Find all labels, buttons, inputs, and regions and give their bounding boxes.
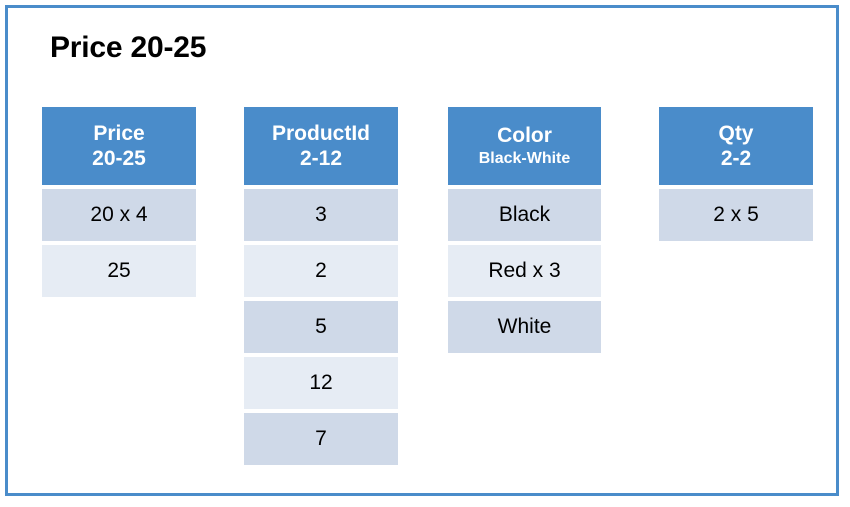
- table-cell[interactable]: 7: [244, 413, 398, 465]
- column-header-color: Color Black-White: [448, 107, 601, 185]
- table-cell[interactable]: 5: [244, 301, 398, 353]
- column-header-qty: Qty 2-2: [659, 107, 813, 185]
- column-header-title: ProductId: [272, 121, 370, 146]
- table-cell[interactable]: 2 x 5: [659, 189, 813, 241]
- column-header-productid: ProductId 2-12: [244, 107, 398, 185]
- table-cell[interactable]: 12: [244, 357, 398, 409]
- column-productid: ProductId 2-12 3 2 5 12 7: [244, 107, 398, 469]
- table-cell[interactable]: 2: [244, 245, 398, 297]
- column-header-title: Qty: [718, 121, 753, 146]
- table-cell[interactable]: 20 x 4: [42, 189, 196, 241]
- table-cell[interactable]: 3: [244, 189, 398, 241]
- column-header-price: Price 20-25: [42, 107, 196, 185]
- column-header-subtitle: 2-12: [300, 146, 342, 171]
- column-header-subtitle: 2-2: [721, 146, 751, 171]
- column-header-subtitle: Black-White: [479, 148, 571, 170]
- content-frame: Price 20-25 Price 20-25 20 x 4 25 Produc…: [5, 5, 839, 496]
- column-group: Price 20-25 20 x 4 25 ProductId 2-12 3 2…: [42, 107, 822, 469]
- table-cell[interactable]: Black: [448, 189, 601, 241]
- column-header-title: Price: [93, 121, 144, 146]
- column-color: Color Black-White Black Red x 3 White: [448, 107, 601, 357]
- page-title: Price 20-25: [50, 31, 206, 65]
- column-qty: Qty 2-2 2 x 5: [659, 107, 813, 245]
- column-header-subtitle: 20-25: [92, 146, 146, 171]
- column-header-title: Color: [497, 123, 552, 148]
- table-cell[interactable]: 25: [42, 245, 196, 297]
- table-cell[interactable]: White: [448, 301, 601, 353]
- column-price: Price 20-25 20 x 4 25: [42, 107, 196, 301]
- table-cell[interactable]: Red x 3: [448, 245, 601, 297]
